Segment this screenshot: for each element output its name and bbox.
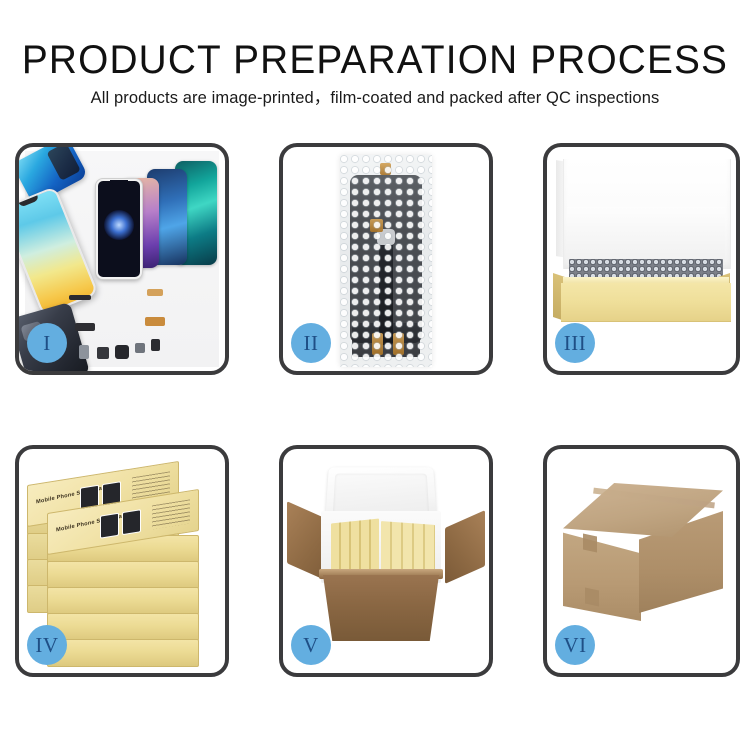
step-badge-6: VI xyxy=(555,625,595,665)
phone-photo-icon xyxy=(122,509,141,535)
step-badge-5: V xyxy=(291,625,331,665)
retail-box-icon xyxy=(47,587,199,615)
step-badge-4: IV xyxy=(27,625,67,665)
tempered-glass-screen-protector-icon xyxy=(96,179,142,279)
flex-connector-icon xyxy=(145,317,165,326)
step-badge-1: I xyxy=(27,323,67,363)
process-step-panel-3: III xyxy=(543,143,740,375)
process-step-panel-5: V xyxy=(279,445,493,677)
carton-face-left xyxy=(563,527,641,621)
page-subtitle: All products are image-printed，film-coat… xyxy=(0,87,750,109)
page-title: PRODUCT PREPARATION PROCESS xyxy=(11,38,739,82)
process-step-panel-4: Mobile Phone Spare Parts Mobile Phone Sp… xyxy=(15,445,229,677)
step-badge-3: III xyxy=(555,323,595,363)
process-step-panel-1: I xyxy=(15,143,229,375)
component-module-icon xyxy=(75,323,95,331)
process-step-panel-6: VI xyxy=(543,445,740,677)
camera-module-icon xyxy=(115,345,129,359)
retail-box-icon xyxy=(47,561,199,589)
bubble-wrap-pouch-icon xyxy=(340,155,432,367)
retail-box-icon xyxy=(47,613,199,641)
component-chip-icon xyxy=(69,295,91,300)
page-header: PRODUCT PREPARATION PROCESS All products… xyxy=(0,0,750,130)
flex-cable-icon xyxy=(147,289,163,296)
step-badge-2: II xyxy=(291,323,331,363)
sim-tray-icon xyxy=(79,345,89,359)
brown-carton-body-icon xyxy=(323,575,439,641)
bubble-texture xyxy=(340,155,432,367)
yellow-cardboard-tray-icon xyxy=(561,283,731,322)
phone-photo-icon xyxy=(100,513,119,539)
carton-tab-icon xyxy=(585,588,599,607)
carton-flap-right xyxy=(445,510,485,584)
bracket-icon xyxy=(135,343,145,353)
white-foam-padding-icon xyxy=(567,207,725,265)
speaker-icon xyxy=(97,347,109,359)
spec-text-lines xyxy=(152,499,190,529)
button-flex-icon xyxy=(151,339,160,351)
carton-tab-icon xyxy=(583,534,597,553)
process-panel-grid: I II xyxy=(0,130,750,690)
retail-box-icon xyxy=(47,639,199,667)
process-step-panel-2: II xyxy=(279,143,493,375)
